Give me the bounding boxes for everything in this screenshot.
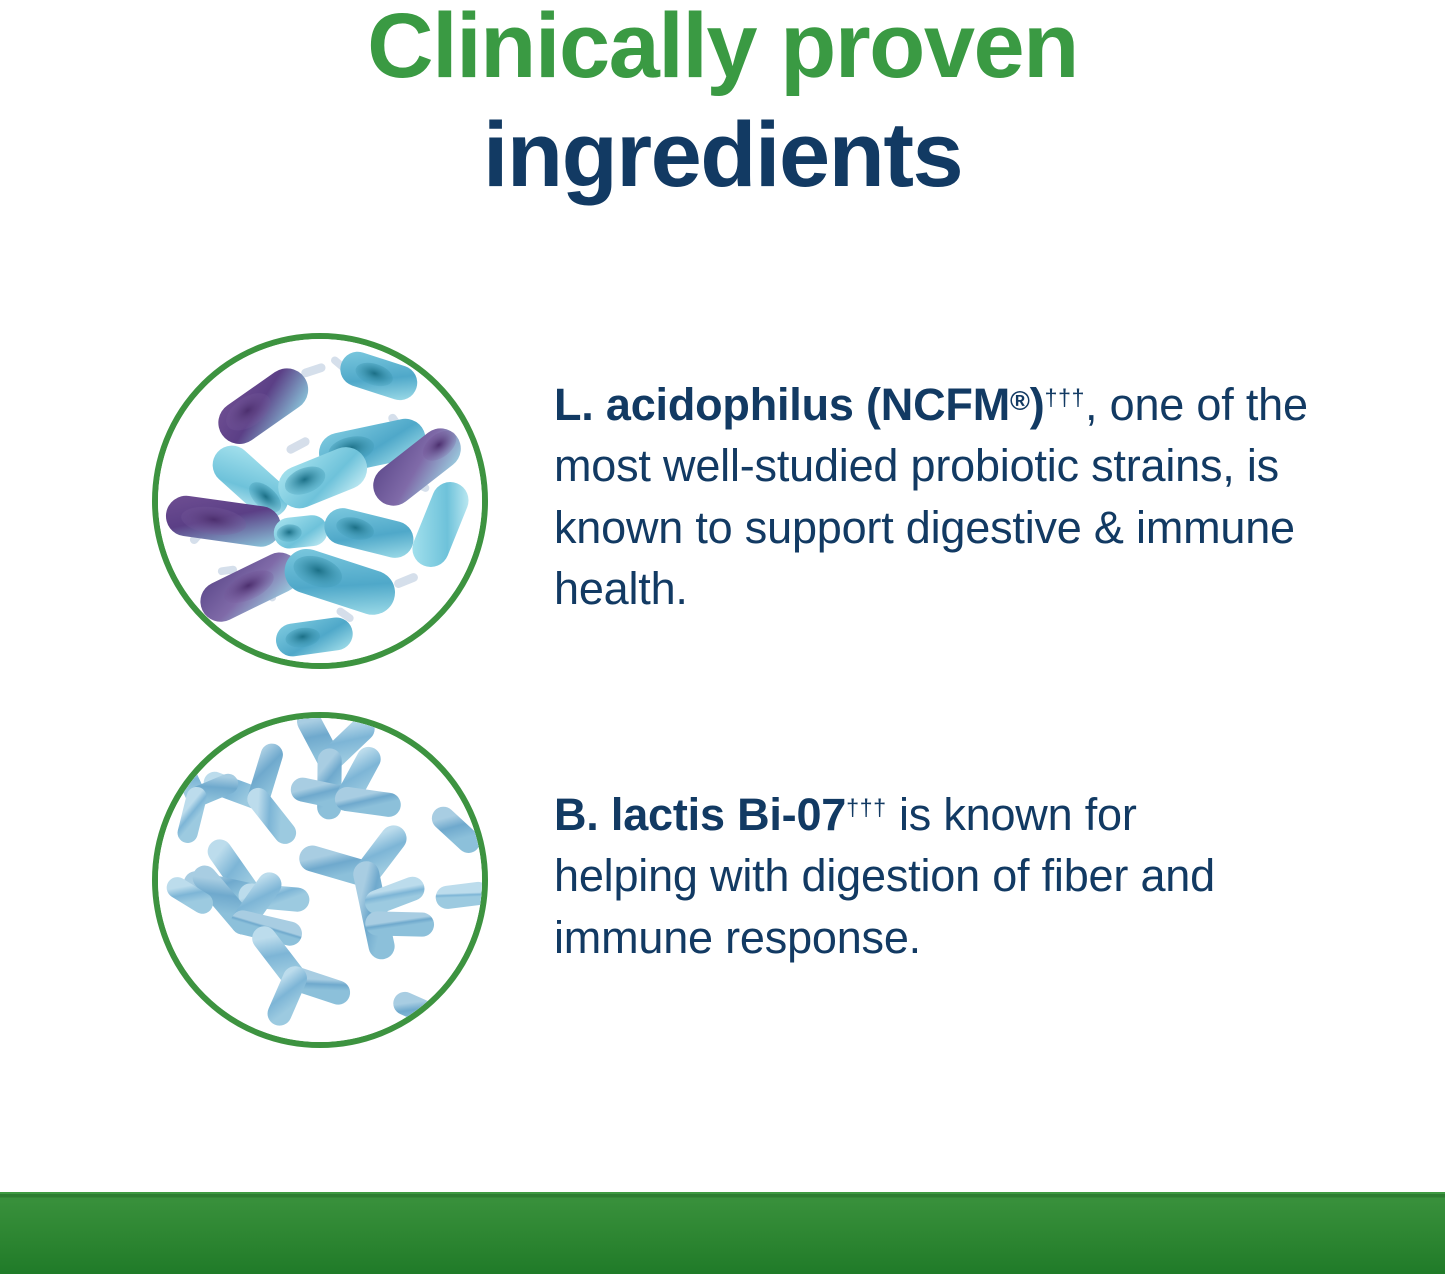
page-title-line2: ingredients [0,101,1445,210]
strain-name-2: B. lactis Bi-07 [554,789,846,840]
page-title: Clinically proven ingredients [0,0,1445,209]
footnote-marker-2: ††† [846,795,887,821]
ingredient-description-l-acidophilus: L. acidophilus (NCFM®)†††, one of the mo… [554,374,1314,620]
ingredient-row-b-lactis: B. lactis Bi-07††† is known for helping … [152,712,1254,1048]
bottom-green-band [0,1192,1445,1274]
footnote-marker-1: ††† [1044,385,1085,411]
rod-bacteria-micrograph-icon [152,333,488,669]
page-title-line1: Clinically proven [0,0,1445,101]
strain-close-1: ) [1030,379,1045,430]
registered-mark-1: ® [1010,386,1030,416]
y-shaped-bifidobacteria-micrograph-icon [152,712,488,1048]
ingredients-infographic: Clinically proven ingredients [0,0,1445,1274]
strain-name-1: L. acidophilus (NCFM [554,379,1010,430]
ingredient-description-b-lactis: B. lactis Bi-07††† is known for helping … [554,784,1254,968]
ingredient-row-l-acidophilus: L. acidophilus (NCFM®)†††, one of the mo… [152,333,1314,669]
